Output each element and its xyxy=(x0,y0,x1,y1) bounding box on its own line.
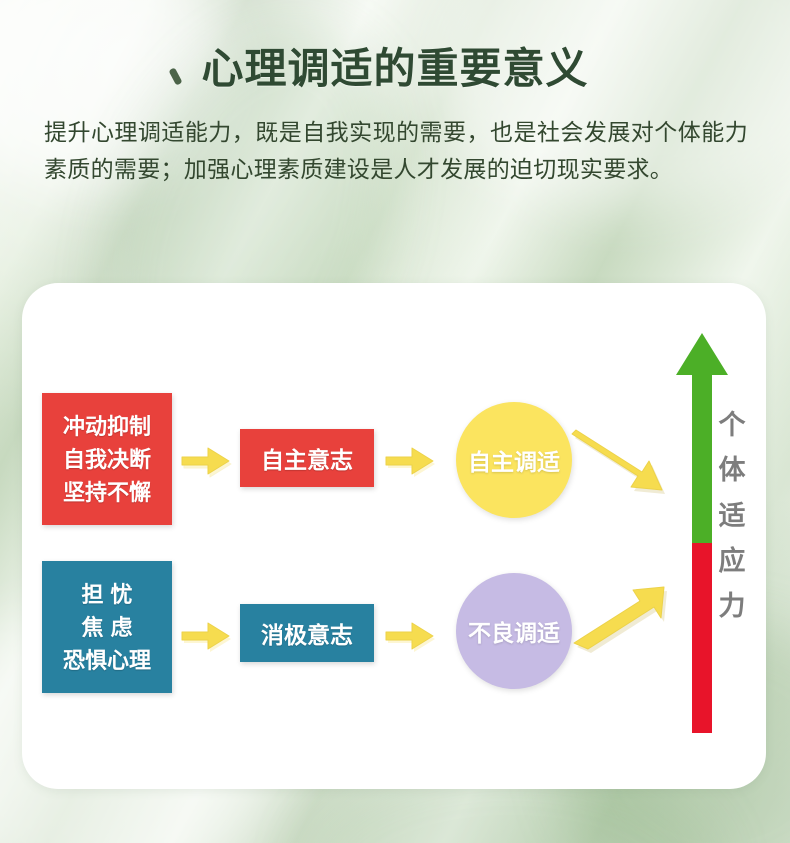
capacity-label-char: 应 xyxy=(712,539,752,584)
source-line: 冲动抑制 xyxy=(63,410,151,443)
page-root: 心理调适的重要意义 提升心理调适能力，既是自我实现的需要，也是社会发展对个体能力… xyxy=(0,0,790,843)
source-box-negative[interactable]: 担忧 焦虑 恐惧心理 xyxy=(42,561,172,693)
outcome-circle-negative[interactable]: 不良调适 xyxy=(456,573,572,689)
flow-arrow-right-icon xyxy=(180,444,232,483)
flow-arrow-right-icon xyxy=(384,619,436,658)
outcome-circle-positive[interactable]: 自主调适 xyxy=(456,402,572,518)
source-line: 自我决断 xyxy=(63,443,151,476)
adaptation-flow-diagram: 冲动抑制 自我决断 坚持不懈 担忧 焦虑 恐惧心理 自主意志 消极意志 自主调适… xyxy=(22,283,766,789)
diagram-card: 冲动抑制 自我决断 坚持不懈 担忧 焦虑 恐惧心理 自主意志 消极意志 自主调适… xyxy=(22,283,766,789)
source-line: 恐惧心理 xyxy=(63,644,151,677)
source-box-positive[interactable]: 冲动抑制 自我决断 坚持不懈 xyxy=(42,393,172,525)
page-subtitle: 提升心理调适能力，既是自我实现的需要，也是社会发展对个体能力素质的需要；加强心理… xyxy=(44,114,748,189)
capacity-label-char: 个 xyxy=(712,403,752,448)
will-box-autonomous[interactable]: 自主意志 xyxy=(240,429,374,487)
source-line: 焦虑 xyxy=(74,611,139,644)
page-title: 心理调适的重要意义 xyxy=(0,46,790,92)
source-line: 坚持不懈 xyxy=(63,476,151,509)
capacity-label-char: 适 xyxy=(712,494,752,539)
flow-arrow-right-icon xyxy=(180,619,232,658)
capacity-label-char: 体 xyxy=(712,448,752,493)
header: 心理调适的重要意义 提升心理调适能力，既是自我实现的需要，也是社会发展对个体能力… xyxy=(0,0,790,189)
source-line: 担忧 xyxy=(74,578,139,611)
will-box-negative[interactable]: 消极意志 xyxy=(240,604,374,662)
flow-arrow-right-icon xyxy=(384,444,436,483)
capacity-label-char: 力 xyxy=(712,584,752,629)
capacity-axis-label: 个 体 适 应 力 xyxy=(712,403,752,630)
